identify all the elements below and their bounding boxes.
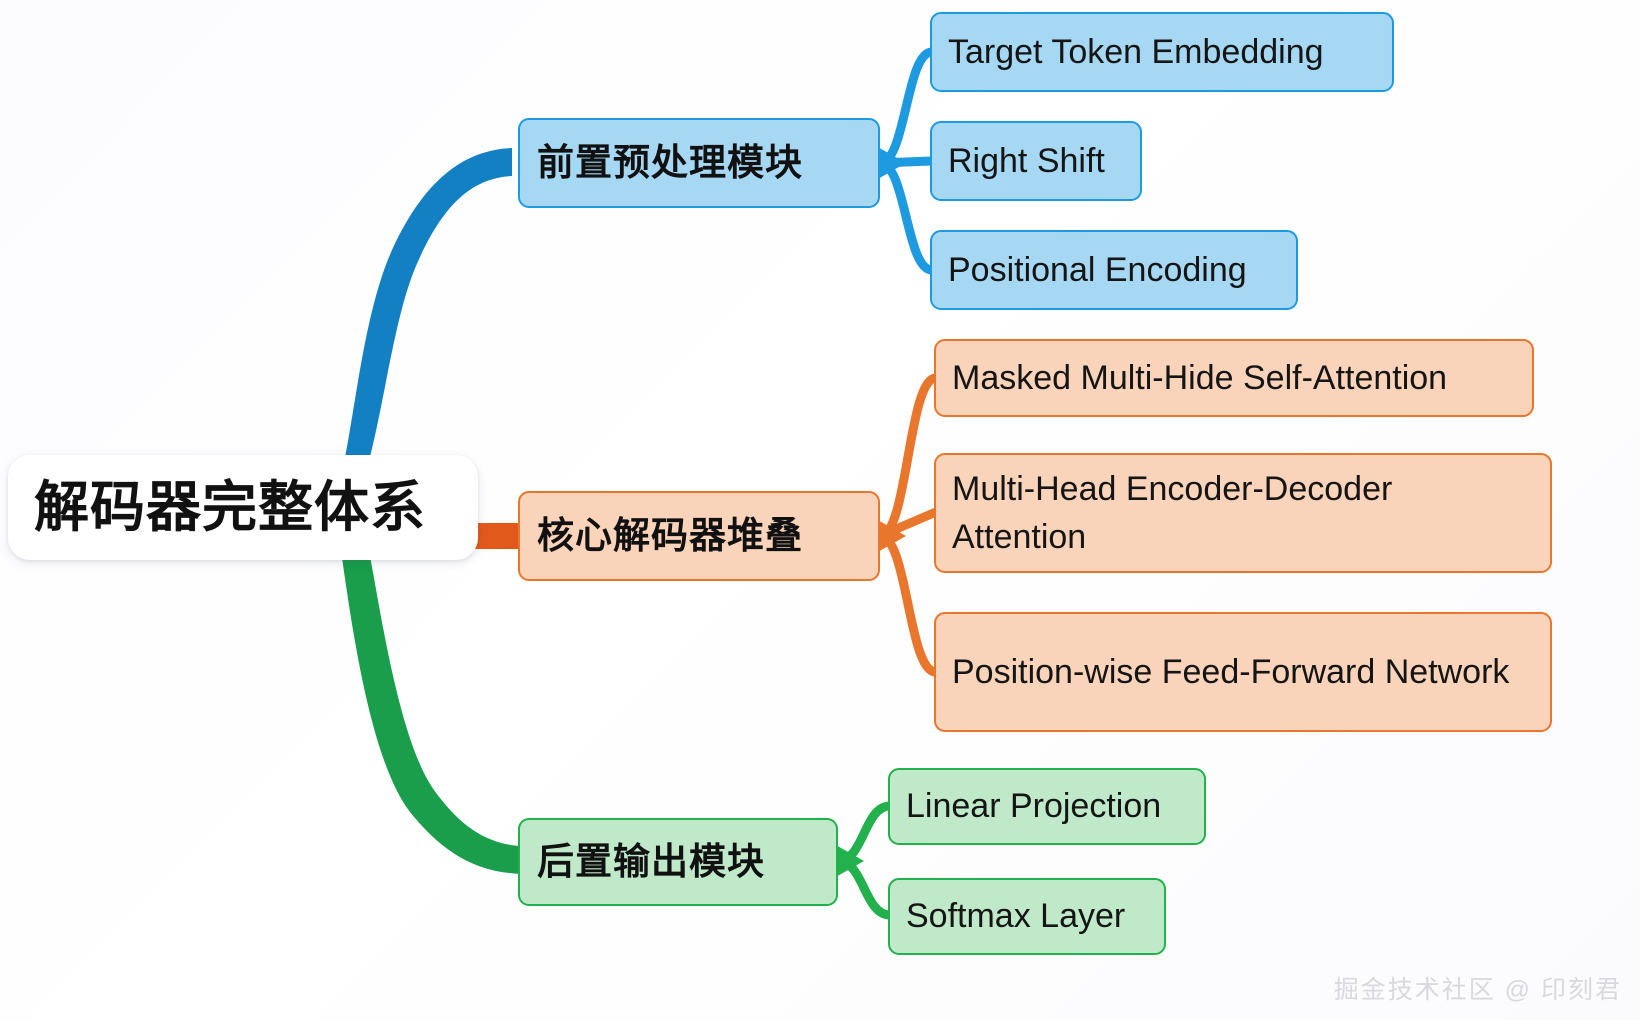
branch-node-core[interactable]: 核心解码器堆叠 <box>518 491 880 581</box>
leaf-node-positional-encoding[interactable]: Positional Encoding <box>930 230 1298 310</box>
leaf-node-encoder-decoder-attention-label: Multi-Head Encoder-Decoder Attention <box>952 465 1534 562</box>
leaf-node-feed-forward-network[interactable]: Position-wise Feed-Forward Network <box>934 612 1552 732</box>
edge-core-to-leaf-2 <box>880 512 936 536</box>
edge-core-to-leaf-1 <box>880 378 936 536</box>
edge-pre-to-leaf-2 <box>880 161 932 163</box>
leaf-node-target-token-embedding[interactable]: Target Token Embedding <box>930 12 1394 92</box>
branch-node-pre[interactable]: 前置预处理模块 <box>518 118 880 208</box>
leaf-node-masked-self-attention-label: Masked Multi-Hide Self-Attention <box>952 354 1516 402</box>
edge-post-to-leaf-2 <box>838 861 890 915</box>
edge-core-to-leaf-3 <box>880 536 936 672</box>
watermark: 掘金技术社区 @ 印刻君 <box>1334 970 1622 1006</box>
edge-root-to-post <box>342 556 520 874</box>
leaf-node-right-shift-label: Right Shift <box>948 137 1124 185</box>
leaf-node-feed-forward-network-label: Position-wise Feed-Forward Network <box>952 648 1534 696</box>
edge-core-arrow <box>876 519 906 553</box>
leaf-node-linear-projection[interactable]: Linear Projection <box>888 768 1206 845</box>
leaf-node-softmax-layer-label: Softmax Layer <box>906 892 1148 940</box>
branch-node-post[interactable]: 后置输出模块 <box>518 818 838 906</box>
edge-root-to-core <box>472 523 520 549</box>
edge-pre-arrow <box>876 146 906 180</box>
root-node[interactable]: 解码器完整体系 <box>8 455 478 560</box>
branch-node-core-label: 核心解码器堆叠 <box>537 516 861 557</box>
leaf-node-positional-encoding-label: Positional Encoding <box>948 246 1280 294</box>
leaf-node-softmax-layer[interactable]: Softmax Layer <box>888 878 1166 955</box>
branch-node-post-label: 后置输出模块 <box>537 842 819 883</box>
edge-pre-to-leaf-1 <box>880 52 932 163</box>
leaf-node-right-shift[interactable]: Right Shift <box>930 121 1142 201</box>
leaf-node-encoder-decoder-attention[interactable]: Multi-Head Encoder-Decoder Attention <box>934 453 1552 573</box>
leaf-node-linear-projection-label: Linear Projection <box>906 782 1188 830</box>
root-node-label: 解码器完整体系 <box>34 479 452 537</box>
leaf-node-masked-self-attention[interactable]: Masked Multi-Hide Self-Attention <box>934 339 1534 417</box>
mindmap-canvas: 解码器完整体系 前置预处理模块 Target Token Embedding R… <box>0 0 1640 1020</box>
edge-post-to-leaf-1 <box>838 806 890 861</box>
branch-node-pre-label: 前置预处理模块 <box>537 143 861 184</box>
edge-post-arrow <box>834 844 864 878</box>
leaf-node-target-token-embedding-label: Target Token Embedding <box>948 28 1376 76</box>
edge-pre-to-leaf-3 <box>880 163 932 270</box>
